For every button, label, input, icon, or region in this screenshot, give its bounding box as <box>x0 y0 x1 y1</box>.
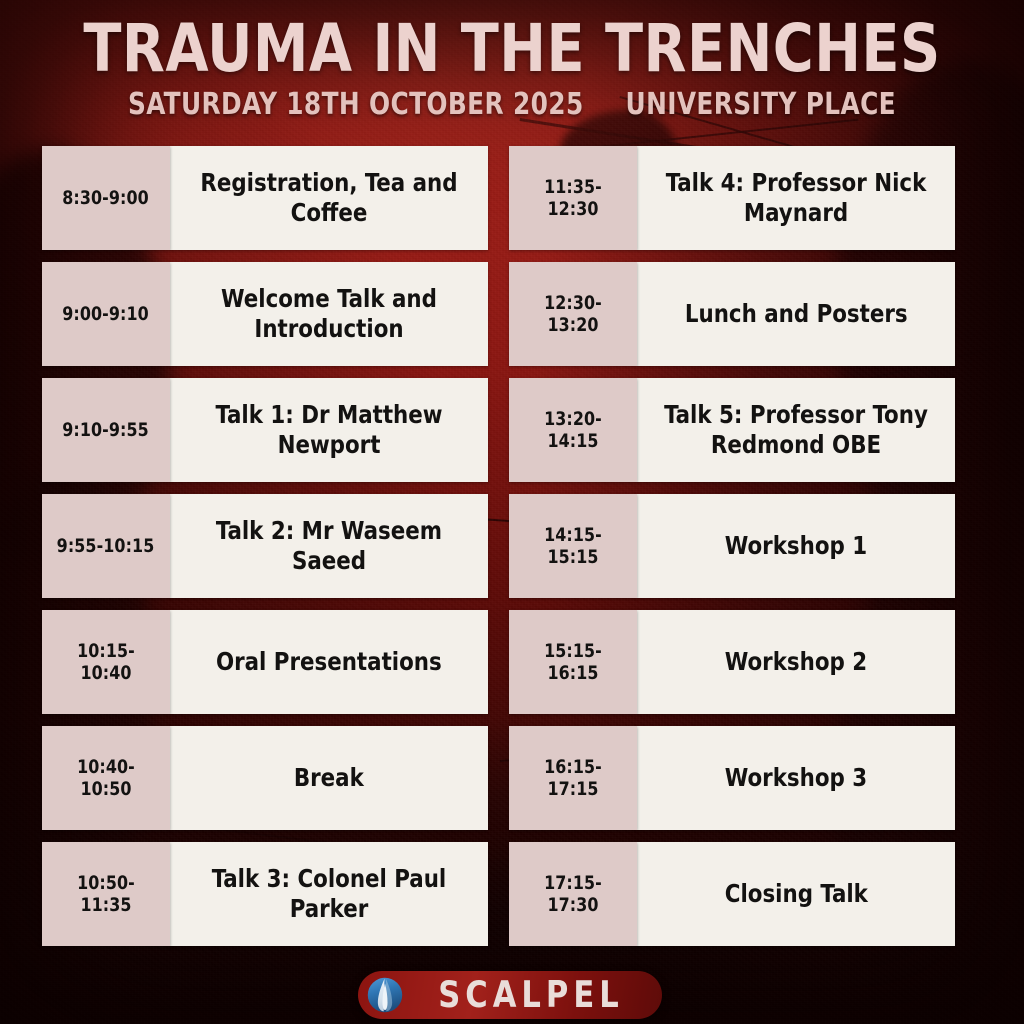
schedule-event-left: Talk 3: Colonel Paul Parker <box>170 842 488 946</box>
schedule-event-left-text: Welcome Talk and Introduction <box>187 284 470 344</box>
schedule-event-right: Lunch and Posters <box>637 262 955 366</box>
schedule-event-right-text: Workshop 3 <box>725 763 867 793</box>
column-gap <box>488 378 509 482</box>
schedule-time-left: 9:10-9:55 <box>42 378 170 482</box>
schedule-time-left-text: 9:55-10:15 <box>57 535 155 557</box>
scalpel-logo-text: SCALPEL <box>406 973 662 1016</box>
schedule-event-right: Workshop 3 <box>637 726 955 830</box>
schedule-time-left: 9:00-9:10 <box>42 262 170 366</box>
schedule-time-right-text: 14:15-15:15 <box>523 524 623 568</box>
schedule-event-left: Welcome Talk and Introduction <box>170 262 488 366</box>
schedule-time-left-text: 10:40-10:50 <box>56 756 156 800</box>
column-gap <box>488 610 509 714</box>
schedule-event-left: Talk 2: Mr Waseem Saeed <box>170 494 488 598</box>
schedule-time-left-text: 8:30-9:00 <box>63 187 150 209</box>
schedule-time-left: 9:55-10:15 <box>42 494 170 598</box>
schedule-time-left: 10:40-10:50 <box>42 726 170 830</box>
column-gap <box>488 146 509 250</box>
column-gap <box>488 726 509 830</box>
page-title: TRAUMA IN THE TRENCHES <box>31 14 994 84</box>
schedule-time-left-text: 9:00-9:10 <box>63 303 150 325</box>
scalpel-logo-badge[interactable]: SCALPEL <box>358 971 662 1019</box>
schedule-time-left-text: 10:15-10:40 <box>56 640 156 684</box>
schedule-event-left-text: Talk 2: Mr Waseem Saeed <box>187 516 470 576</box>
schedule-event-right: Talk 5: Professor Tony Redmond OBE <box>637 378 955 482</box>
scalpel-blade-circle-icon <box>364 974 406 1016</box>
schedule-event-left-text: Break <box>294 763 364 793</box>
schedule-time-right-text: 16:15-17:15 <box>523 756 623 800</box>
schedule-time-right-text: 11:35-12:30 <box>523 176 623 220</box>
column-gap <box>488 494 509 598</box>
event-subtitle: SATURDAY 18TH OCTOBER 2025 UNIVERSITY PL… <box>41 88 983 122</box>
schedule-time-right-text: 12:30-13:20 <box>523 292 623 336</box>
schedule-event-left: Registration, Tea and Coffee <box>170 146 488 250</box>
schedule-time-right-text: 15:15-16:15 <box>523 640 623 684</box>
schedule-time-right: 17:15-17:30 <box>509 842 637 946</box>
poster-header: TRAUMA IN THE TRENCHES SATURDAY 18TH OCT… <box>0 0 1024 140</box>
schedule-time-right-text: 13:20-14:15 <box>523 408 623 452</box>
schedule-event-right-text: Closing Talk <box>724 879 867 909</box>
schedule-event-right-text: Talk 4: Professor Nick Maynard <box>654 168 937 228</box>
schedule-event-left-text: Oral Presentations <box>216 647 442 677</box>
schedule-event-right: Workshop 1 <box>637 494 955 598</box>
schedule-event-right: Closing Talk <box>637 842 955 946</box>
schedule-event-right-text: Talk 5: Professor Tony Redmond OBE <box>654 400 937 460</box>
schedule-time-right: 12:30-13:20 <box>509 262 637 366</box>
schedule-event-left-text: Talk 3: Colonel Paul Parker <box>187 864 470 924</box>
schedule-event-right-text: Lunch and Posters <box>685 299 908 329</box>
schedule-time-right: 14:15-15:15 <box>509 494 637 598</box>
schedule-time-left-text: 10:50-11:35 <box>56 872 156 916</box>
schedule-time-right: 15:15-16:15 <box>509 610 637 714</box>
schedule-event-left: Break <box>170 726 488 830</box>
schedule-time-left: 8:30-9:00 <box>42 146 170 250</box>
schedule-event-right-text: Workshop 1 <box>725 531 867 561</box>
event-date: SATURDAY 18TH OCTOBER 2025 <box>128 87 584 122</box>
schedule-event-right-text: Workshop 2 <box>725 647 867 677</box>
schedule-grid: 8:30-9:00Registration, Tea and Coffee11:… <box>42 146 982 946</box>
schedule-event-left: Talk 1: Dr Matthew Newport <box>170 378 488 482</box>
schedule-event-left-text: Registration, Tea and Coffee <box>187 168 470 228</box>
event-venue: UNIVERSITY PLACE <box>626 87 896 122</box>
schedule-event-left: Oral Presentations <box>170 610 488 714</box>
schedule-time-left-text: 9:10-9:55 <box>63 419 150 441</box>
schedule-time-right-text: 17:15-17:30 <box>523 872 623 916</box>
schedule-time-left: 10:15-10:40 <box>42 610 170 714</box>
schedule-time-right: 11:35-12:30 <box>509 146 637 250</box>
column-gap <box>488 842 509 946</box>
schedule-event-right: Workshop 2 <box>637 610 955 714</box>
column-gap <box>488 262 509 366</box>
schedule-time-right: 16:15-17:15 <box>509 726 637 830</box>
schedule-time-left: 10:50-11:35 <box>42 842 170 946</box>
schedule-event-left-text: Talk 1: Dr Matthew Newport <box>187 400 470 460</box>
schedule-time-right: 13:20-14:15 <box>509 378 637 482</box>
event-schedule-poster: TRAUMA IN THE TRENCHES SATURDAY 18TH OCT… <box>0 0 1024 1024</box>
schedule-event-right: Talk 4: Professor Nick Maynard <box>637 146 955 250</box>
